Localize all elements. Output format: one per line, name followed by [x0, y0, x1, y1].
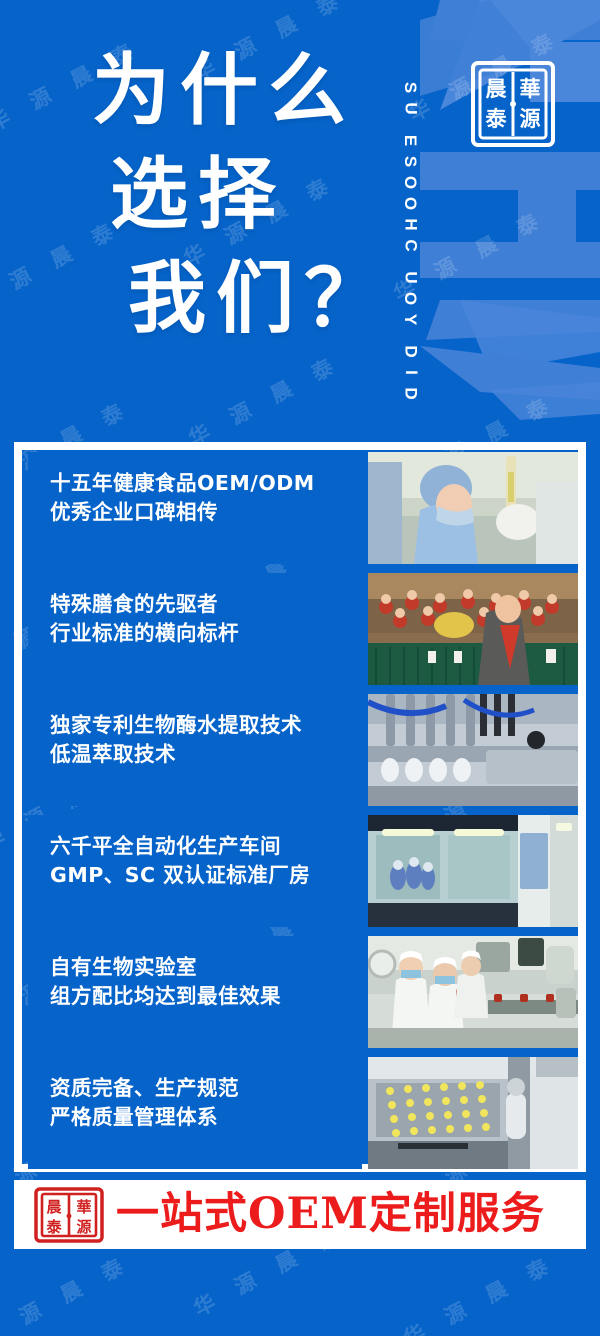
card-text-block: 六千平全自动化生产车间 GMP、SC 双认证标准厂房 [28, 815, 362, 927]
card-text-block: 自有生物实验室 组方配比均达到最佳效果 [28, 936, 362, 1048]
vertical-letter: H [401, 218, 422, 230]
vertical-letter: S [401, 82, 422, 93]
svg-text:華: 華 [520, 76, 541, 101]
card-line-1: 自有生物实验室 [50, 953, 352, 982]
card-line-2: GMP、SC 双认证标准厂房 [50, 861, 352, 890]
banner-headline: 一站式OEM定制服务 [116, 1193, 545, 1236]
svg-text:源: 源 [520, 106, 541, 131]
bottom-banner: 華 源 晨 泰 一站式OEM定制服务 [14, 1180, 586, 1249]
vertical-letter: C [401, 239, 422, 251]
list-item: 特殊膳食的先驱者 行业标准的横向标杆 [28, 573, 578, 685]
card-line-1: 资质完备、生产规范 [50, 1074, 352, 1103]
svg-text:泰: 泰 [485, 106, 508, 131]
vertical-letter: I [400, 370, 421, 375]
list-item: 十五年健康食品OEM/ODM 优秀企业口碑相传 [28, 452, 578, 564]
vertical-letter: E [401, 135, 422, 146]
list-item: 自有生物实验室 组方配比均达到最佳效果 [28, 936, 578, 1048]
svg-text:晨: 晨 [486, 76, 508, 101]
watermark-text: 华 源 晨 泰 [0, 1247, 136, 1336]
card-line-1: 十五年健康食品OEM/ODM [50, 469, 352, 498]
card-text-block: 十五年健康食品OEM/ODM 优秀企业口碑相传 [28, 452, 362, 564]
card-line-1: 六千平全自动化生产车间 [50, 832, 352, 861]
card-line-2: 优秀企业口碑相传 [50, 498, 352, 527]
company-seal-icon: 華 源 晨 泰 [468, 58, 558, 150]
card-line-1: 独家专利生物酶水提取技术 [50, 711, 352, 740]
card-line-2: 行业标准的横向标杆 [50, 619, 352, 648]
list-item: 资质完备、生产规范 严格质量管理体系 [28, 1057, 578, 1169]
watermark-text: 华 源 晨 泰 [398, 1247, 561, 1336]
list-item: 独家专利生物酶水提取技术 低温萃取技术 [28, 694, 578, 806]
svg-text:源: 源 [76, 1218, 91, 1236]
vertical-letter: Y [401, 314, 422, 325]
svg-text:華: 華 [76, 1198, 91, 1216]
card-text-block: 资质完备、生产规范 严格质量管理体系 [28, 1057, 362, 1169]
card-line-1: 特殊膳食的先驱者 [50, 590, 352, 619]
title-line-1: 为什么 [92, 52, 392, 130]
vertical-english-caption: D I D Y O U C H O O S E U S [398, 26, 424, 404]
title-line-3: 我们？ [128, 260, 392, 338]
card-line-2: 组方配比均达到最佳效果 [50, 982, 352, 1011]
card-text-block: 特殊膳食的先驱者 行业标准的横向标杆 [28, 573, 362, 685]
vertical-letter: O [400, 197, 421, 210]
card-photo-lab-technician-testing-sample [368, 452, 578, 564]
card-text-block: 独家专利生物酶水提取技术 低温萃取技术 [28, 694, 362, 806]
vertical-letter: O [400, 292, 421, 305]
card-line-2: 严格质量管理体系 [50, 1103, 352, 1132]
card-photo-filling-machine-production-line [368, 694, 578, 806]
title-line-2: 选择 [110, 156, 392, 234]
header-section: 为什么 选择 我们？ D I D Y O U C H O O S E U S [0, 0, 600, 440]
svg-text:泰: 泰 [45, 1218, 62, 1236]
company-seal-red-icon: 華 源 晨 泰 [32, 1186, 106, 1244]
card-photo-conference-audience-hall [368, 573, 578, 685]
vertical-letter: O [400, 176, 421, 189]
card-photo-cleanroom-workshop-corridor [368, 815, 578, 927]
vertical-letter: S [401, 156, 422, 167]
feature-card-list: 十五年健康食品OEM/ODM 优秀企业口碑相传 [28, 452, 578, 1172]
vertical-letter: D [401, 387, 422, 399]
card-photo-tablet-blister-packaging-machine [368, 1057, 578, 1169]
vertical-letter: U [401, 102, 422, 114]
vertical-letter: U [401, 271, 422, 283]
card-line-2: 低温萃取技术 [50, 740, 352, 769]
card-photo-lab-staff-inspecting-line [368, 936, 578, 1048]
list-item: 六千平全自动化生产车间 GMP、SC 双认证标准厂房 [28, 815, 578, 927]
svg-text:晨: 晨 [46, 1198, 62, 1216]
page-title: 为什么 选择 我们？ [92, 52, 392, 338]
vertical-letter: D [401, 345, 422, 357]
poster-root: 华 源 晨 泰 华 源 晨 泰 华 源 晨 泰 华 源 晨 泰 华 源 晨 泰 … [0, 0, 600, 1336]
